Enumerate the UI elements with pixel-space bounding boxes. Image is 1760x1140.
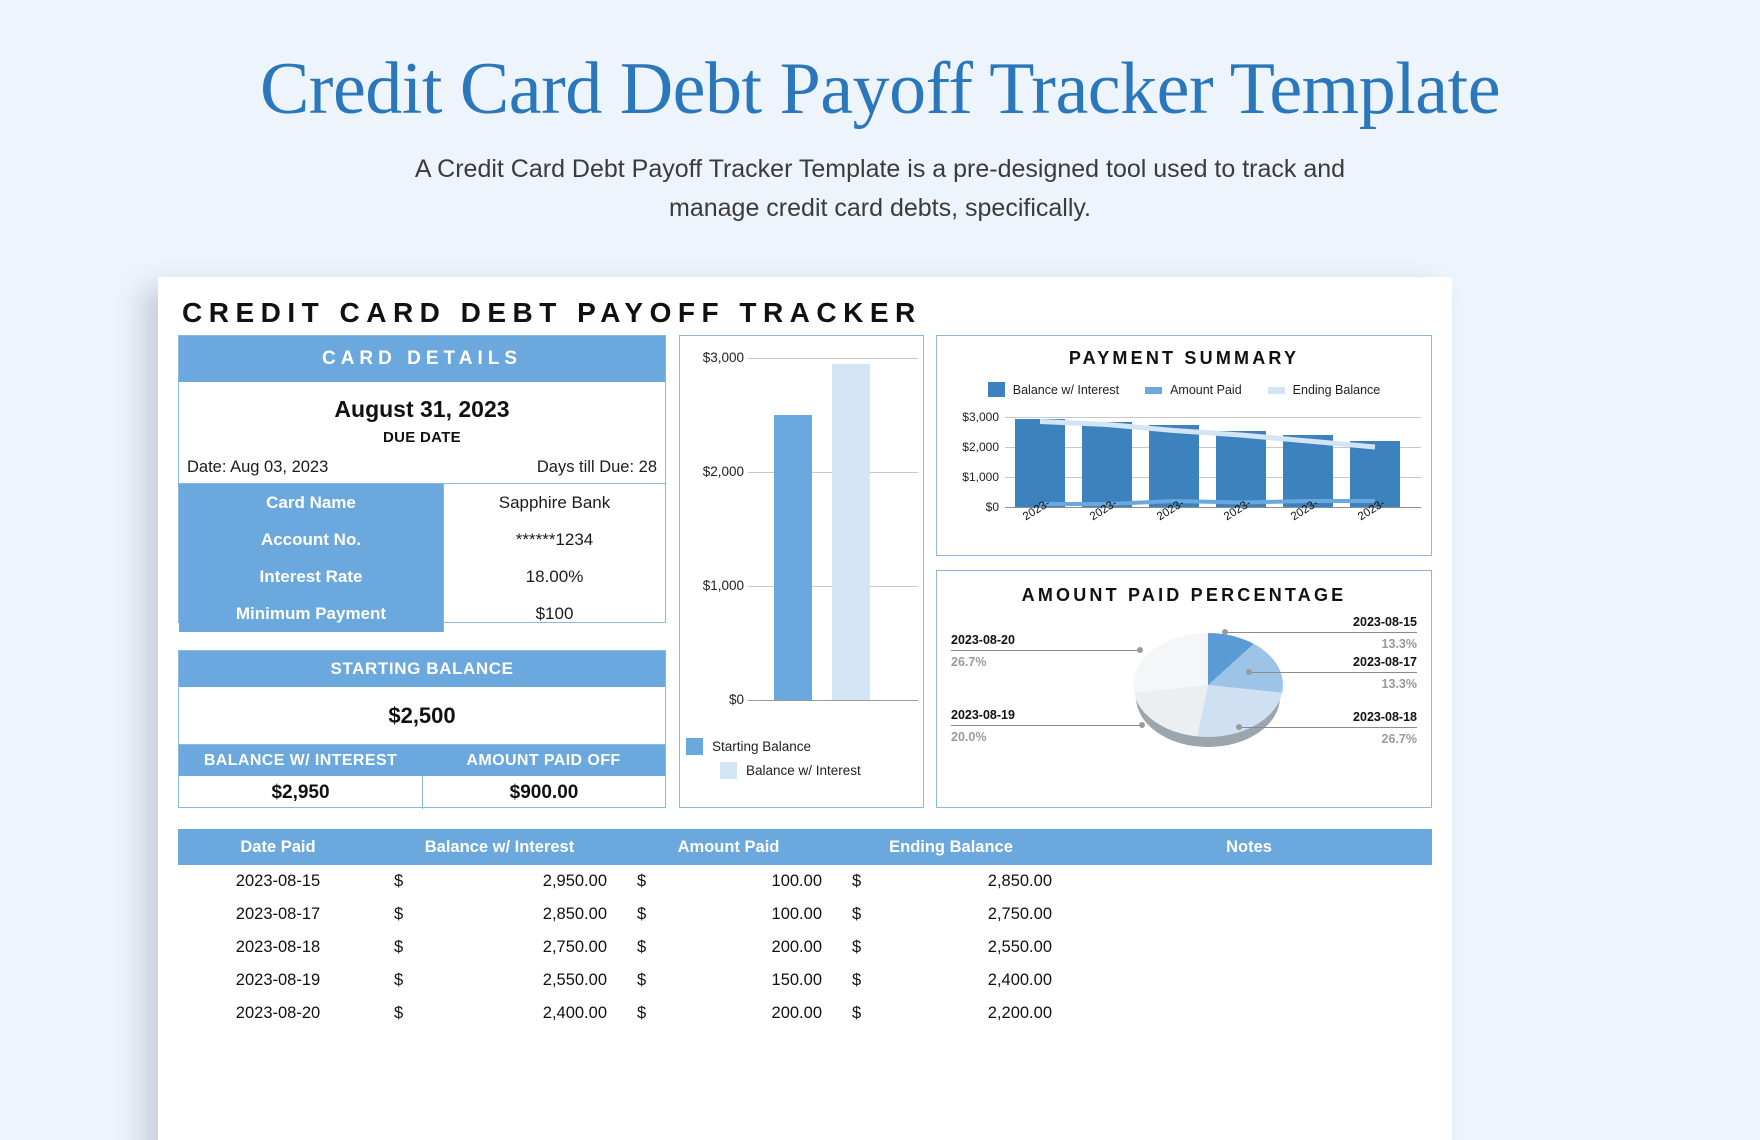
pie-label-2023-08-20: 2023-08-20 — [951, 633, 1015, 647]
pie-pct-2023-08-19: 20.0% — [951, 730, 986, 744]
pie-leader-dot — [1139, 722, 1145, 728]
sheet-title: CREDIT CARD DEBT PAYOFF TRACKER — [182, 297, 922, 329]
cell-ending-balance: 2,850.00 — [988, 872, 1052, 891]
cell-date-paid: 2023-08-19 — [178, 964, 378, 997]
cell-balance: 2,400.00 — [543, 1004, 607, 1023]
col-header-amount-paid: Amount Paid — [621, 829, 836, 865]
currency-symbol: $ — [394, 938, 403, 957]
page-title: Credit Card Debt Payoff Tracker Template — [0, 52, 1760, 126]
pie-label-2023-08-19: 2023-08-19 — [951, 708, 1015, 722]
table-header-row: Date Paid Balance w/ Interest Amount Pai… — [178, 829, 1432, 865]
currency-symbol: $ — [852, 872, 861, 891]
pie-leader-line — [951, 725, 1141, 726]
card-details-panel: CARD DETAILS August 31, 2023 DUE DATE Da… — [178, 335, 666, 623]
legend-swatch-icon — [1268, 387, 1285, 394]
cell-date-paid: 2023-08-15 — [178, 865, 378, 898]
bar-chart-legend: Starting Balance Balance w/ Interest — [686, 738, 861, 786]
tracker-sheet: CREDIT CARD DEBT PAYOFF TRACKER CARD DET… — [158, 277, 1452, 1140]
legend-label-ending-balance: Ending Balance — [1293, 383, 1381, 397]
legend-label-balance-with-interest: Balance w/ Interest — [746, 763, 861, 778]
pie-chart-title: AMOUNT PAID PERCENTAGE — [937, 585, 1431, 606]
legend-item-starting-balance[interactable]: Starting Balance — [686, 738, 861, 755]
table-row[interactable]: 2023-08-15 $2,950.00 $100.00 $2,850.00 — [178, 865, 1432, 898]
payment-summary-title: PAYMENT SUMMARY — [937, 348, 1431, 369]
pie-slices — [1133, 633, 1283, 737]
balance-with-interest-value[interactable]: $2,950 — [179, 776, 422, 809]
pie-leader-line — [1225, 632, 1417, 633]
pie-leader-dot — [1246, 669, 1252, 675]
balance-with-interest-header: BALANCE W/ INTEREST — [179, 745, 422, 776]
days-till-due-label: Days till Due: 28 — [537, 458, 657, 477]
currency-symbol: $ — [637, 971, 646, 990]
pie-label-2023-08-17: 2023-08-17 — [1353, 655, 1417, 669]
cell-date-paid: 2023-08-17 — [178, 898, 378, 931]
starting-balance-value[interactable]: $2,500 — [179, 687, 665, 745]
legend-item-ending-balance[interactable]: Ending Balance — [1268, 382, 1381, 397]
pie-leader-line — [1249, 672, 1417, 673]
currency-symbol: $ — [852, 938, 861, 957]
legend-swatch-icon — [686, 738, 703, 755]
pie-leader-dot — [1137, 647, 1143, 653]
card-details-grid: Card Name Sapphire Bank Account No. ****… — [179, 484, 665, 632]
account-no-key: Account No. — [179, 521, 443, 558]
legend-item-amount-paid[interactable]: Amount Paid — [1145, 382, 1242, 397]
page-subtitle: A Credit Card Debt Payoff Tracker Templa… — [380, 150, 1380, 228]
balance-summary-grid: BALANCE W/ INTEREST AMOUNT PAID OFF $2,9… — [179, 745, 665, 809]
pie-pct-2023-08-15: 13.3% — [1382, 637, 1417, 651]
currency-symbol: $ — [394, 971, 403, 990]
currency-symbol: $ — [852, 1004, 861, 1023]
page-root: Credit Card Debt Payoff Tracker Template… — [0, 0, 1760, 1140]
bar-balance-with-interest[interactable] — [832, 364, 870, 700]
currency-symbol: $ — [394, 1004, 403, 1023]
payment-summary-plot: $3,000 $2,000 $1,000 $0 — [937, 407, 1431, 537]
cell-notes[interactable] — [1066, 997, 1432, 1030]
pie-leader-dot — [1236, 724, 1242, 730]
ytick-1000: $1,000 — [682, 578, 744, 593]
date-row: Date: Aug 03, 2023 Days till Due: 28 — [179, 446, 665, 484]
minimum-payment-value[interactable]: $100 — [443, 595, 665, 632]
col-header-balance: Balance w/ Interest — [378, 829, 621, 865]
ytick-3000: $3,000 — [682, 350, 744, 365]
card-name-value[interactable]: Sapphire Bank — [443, 484, 665, 521]
account-no-value[interactable]: ******1234 — [443, 521, 665, 558]
col-header-ending: Ending Balance — [836, 829, 1066, 865]
cell-amount-paid: 200.00 — [772, 1004, 822, 1023]
gridline-0 — [748, 700, 918, 701]
cell-amount-paid: 150.00 — [772, 971, 822, 990]
table-row[interactable]: 2023-08-18 $2,750.00 $200.00 $2,550.00 — [178, 931, 1432, 964]
due-date-label: DUE DATE — [179, 429, 665, 446]
pie-label-2023-08-18: 2023-08-18 — [1353, 710, 1417, 724]
currency-symbol: $ — [852, 971, 861, 990]
pie-pct-2023-08-20: 26.7% — [951, 655, 986, 669]
legend-label-balance-with-interest: Balance w/ Interest — [1013, 383, 1119, 397]
currency-symbol: $ — [637, 938, 646, 957]
cell-balance: 2,550.00 — [543, 971, 607, 990]
legend-item-balance-with-interest[interactable]: Balance w/ Interest — [988, 382, 1119, 397]
due-date-block: August 31, 2023 DUE DATE — [179, 382, 665, 446]
cell-balance: 2,950.00 — [543, 872, 607, 891]
payments-table: Date Paid Balance w/ Interest Amount Pai… — [178, 829, 1432, 1030]
legend-label-amount-paid: Amount Paid — [1170, 383, 1242, 397]
col-header-date-paid: Date Paid — [178, 829, 378, 865]
pie-chart-graphic[interactable] — [1133, 633, 1283, 751]
amount-paid-off-value[interactable]: $900.00 — [422, 776, 665, 809]
pie-pct-2023-08-17: 13.3% — [1382, 677, 1417, 691]
ytick-2000: $2,000 — [682, 464, 744, 479]
cell-date-paid: 2023-08-18 — [178, 931, 378, 964]
starting-balance-heading: STARTING BALANCE — [179, 651, 665, 687]
cell-balance: 2,750.00 — [543, 938, 607, 957]
starting-balance-panel: STARTING BALANCE $2,500 BALANCE W/ INTER… — [178, 650, 666, 808]
ytick-0: $0 — [682, 692, 744, 707]
table-row[interactable]: 2023-08-20 $2,400.00 $200.00 $2,200.00 — [178, 997, 1432, 1030]
amount-paid-off-header: AMOUNT PAID OFF — [422, 745, 665, 776]
cell-notes[interactable] — [1066, 931, 1432, 964]
cell-notes[interactable] — [1066, 964, 1432, 997]
table-row[interactable]: 2023-08-19 $2,550.00 $150.00 $2,400.00 — [178, 964, 1432, 997]
cell-balance: 2,850.00 — [543, 905, 607, 924]
legend-item-balance-with-interest[interactable]: Balance w/ Interest — [720, 762, 861, 779]
minimum-payment-key: Minimum Payment — [179, 595, 443, 632]
cell-date-paid: 2023-08-20 — [178, 997, 378, 1030]
legend-swatch-icon — [720, 762, 737, 779]
card-name-key: Card Name — [179, 484, 443, 521]
col-header-notes: Notes — [1066, 829, 1432, 865]
cell-ending-balance: 2,200.00 — [988, 1004, 1052, 1023]
pie-leader-line — [1239, 727, 1417, 728]
payment-summary-legend: Balance w/ Interest Amount Paid Ending B… — [937, 382, 1431, 397]
currency-symbol: $ — [637, 872, 646, 891]
currency-symbol: $ — [637, 905, 646, 924]
card-details-heading: CARD DETAILS — [179, 336, 665, 382]
bar-starting-balance[interactable] — [774, 415, 812, 700]
pie-label-2023-08-15: 2023-08-15 — [1353, 615, 1417, 629]
payment-summary-panel: PAYMENT SUMMARY Balance w/ Interest Amou… — [936, 335, 1432, 556]
starting-balance-bar-chart: $3,000 $2,000 $1,000 $0 Starting Balance… — [679, 335, 924, 808]
current-date-label: Date: Aug 03, 2023 — [187, 458, 328, 477]
cell-notes[interactable] — [1066, 865, 1432, 898]
interest-rate-key: Interest Rate — [179, 558, 443, 595]
cell-ending-balance: 2,750.00 — [988, 905, 1052, 924]
cell-ending-balance: 2,550.00 — [988, 938, 1052, 957]
due-date-value: August 31, 2023 — [179, 396, 665, 423]
interest-rate-value[interactable]: 18.00% — [443, 558, 665, 595]
amount-paid-percentage-panel: AMOUNT PAID PERCENTAGE 2023-08-20 26.7% … — [936, 570, 1432, 808]
cell-amount-paid: 200.00 — [772, 938, 822, 957]
legend-swatch-icon — [1145, 387, 1162, 394]
amount-paid-line — [937, 407, 1431, 537]
pie-pct-2023-08-18: 26.7% — [1382, 732, 1417, 746]
gridline-3000 — [748, 358, 918, 359]
legend-label-starting-balance: Starting Balance — [712, 739, 811, 754]
currency-symbol: $ — [852, 905, 861, 924]
cell-notes[interactable] — [1066, 898, 1432, 931]
bar-chart-plot: $3,000 $2,000 $1,000 $0 — [680, 336, 925, 736]
currency-symbol: $ — [394, 905, 403, 924]
currency-symbol: $ — [394, 872, 403, 891]
table-row[interactable]: 2023-08-17 $2,850.00 $100.00 $2,750.00 — [178, 898, 1432, 931]
pie-leader-dot — [1222, 629, 1228, 635]
cell-ending-balance: 2,400.00 — [988, 971, 1052, 990]
pie-leader-line — [951, 650, 1139, 651]
cell-amount-paid: 100.00 — [772, 872, 822, 891]
currency-symbol: $ — [637, 1004, 646, 1023]
legend-swatch-icon — [988, 382, 1005, 397]
cell-amount-paid: 100.00 — [772, 905, 822, 924]
